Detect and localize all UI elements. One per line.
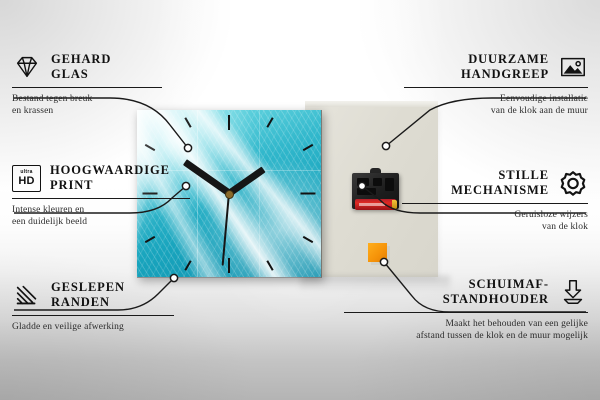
feature-desc-line: van de klok aan de muur [338,105,588,118]
feature-title-line: DUURZAME [338,52,549,67]
feature-divider [404,87,588,88]
feature-gehard-glas: GEHARD GLAS Bestand tegen breuk en krass… [12,52,262,118]
feature-title-line: STILLE [338,168,549,183]
feature-divider [344,312,588,313]
feature-title-line: SCHUIMAF- [318,277,549,292]
feature-title: STILLE MECHANISME [338,168,549,199]
feature-desc-line: van de klok [338,221,588,234]
feature-head: STILLE MECHANISME [338,168,588,199]
feature-title-line: GESLEPEN [51,280,125,295]
feature-title: DUURZAME HANDGREEP [338,52,549,83]
feature-title-line: HANDGREEP [338,67,549,82]
feature-head: DUURZAME HANDGREEP [338,52,588,83]
feature-title-line: MECHANISME [338,183,549,198]
feature-divider [12,315,174,316]
feature-duurzame-handgreep: DUURZAME HANDGREEP Eenvoudige installati… [338,52,588,118]
feature-stille-mechanisme: STILLE MECHANISME Geruisloze wijzers van… [338,168,588,234]
foam-spacer [368,243,387,262]
diamond-icon [12,52,42,82]
feature-desc-line: en krassen [12,105,262,118]
infographic-stage: GEHARD GLAS Bestand tegen breuk en krass… [0,0,600,400]
feature-divider [402,203,588,204]
feature-description: Intense kleuren en een duidelijk beeld [12,204,262,230]
hd-badge-main-text: HD [18,176,34,187]
framed-picture-icon [558,52,588,82]
feature-title: GEHARD GLAS [51,52,111,83]
feature-title-line: GEHARD [51,52,111,67]
feature-title: HOOGWAARDIGE PRINT [50,163,170,194]
feature-divider [12,87,162,88]
feature-desc-line: Eenvoudige installatie [338,93,588,106]
feature-desc-line: een duidelijk beeld [12,216,262,229]
feature-schuimaf-standhouder: SCHUIMAF- STANDHOUDER Maakt het behouden… [318,277,588,343]
feature-description: Bestand tegen breuk en krassen [12,93,262,119]
feature-desc-line: Maakt het behouden van een gelijke [318,318,588,331]
feature-desc-line: Intense kleuren en [12,204,262,217]
feature-title-line: GLAS [51,67,111,82]
feature-desc-line: afstand tussen de klok en de muur mogeli… [318,330,588,343]
gear-icon [558,168,588,198]
feature-title-line: STANDHOUDER [318,292,549,307]
feature-head: SCHUIMAF- STANDHOUDER [318,277,588,308]
beveled-edges-icon [12,280,42,310]
feature-divider [12,198,190,199]
ultra-hd-badge-icon: ultra HD [12,165,41,192]
feature-title: GESLEPEN RANDEN [51,280,125,311]
feature-title-line: RANDEN [51,295,125,310]
feature-description: Eenvoudige installatie van de klok aan d… [338,93,588,119]
feature-title: SCHUIMAF- STANDHOUDER [318,277,549,308]
feature-description: Geruisloze wijzers van de klok [338,209,588,235]
feature-description: Gladde en veilige afwerking [12,321,262,334]
feature-title-line: HOOGWAARDIGE [50,163,170,178]
feature-desc-line: Geruisloze wijzers [338,209,588,222]
feature-desc-line: Bestand tegen breuk [12,93,262,106]
feature-geslepen-randen: GESLEPEN RANDEN Gladde en veilige afwerk… [12,280,262,333]
feature-hoogwaardige-print: ultra HD HOOGWAARDIGE PRINT Intense kleu… [12,163,262,229]
spacer-arrow-icon [558,277,588,307]
feature-description: Maakt het behouden van een gelijke afsta… [318,318,588,344]
feature-head: GESLEPEN RANDEN [12,280,262,311]
feature-title-line: PRINT [50,178,170,193]
feature-head: GEHARD GLAS [12,52,262,83]
feature-desc-line: Gladde en veilige afwerking [12,321,262,334]
feature-head: ultra HD HOOGWAARDIGE PRINT [12,163,262,194]
